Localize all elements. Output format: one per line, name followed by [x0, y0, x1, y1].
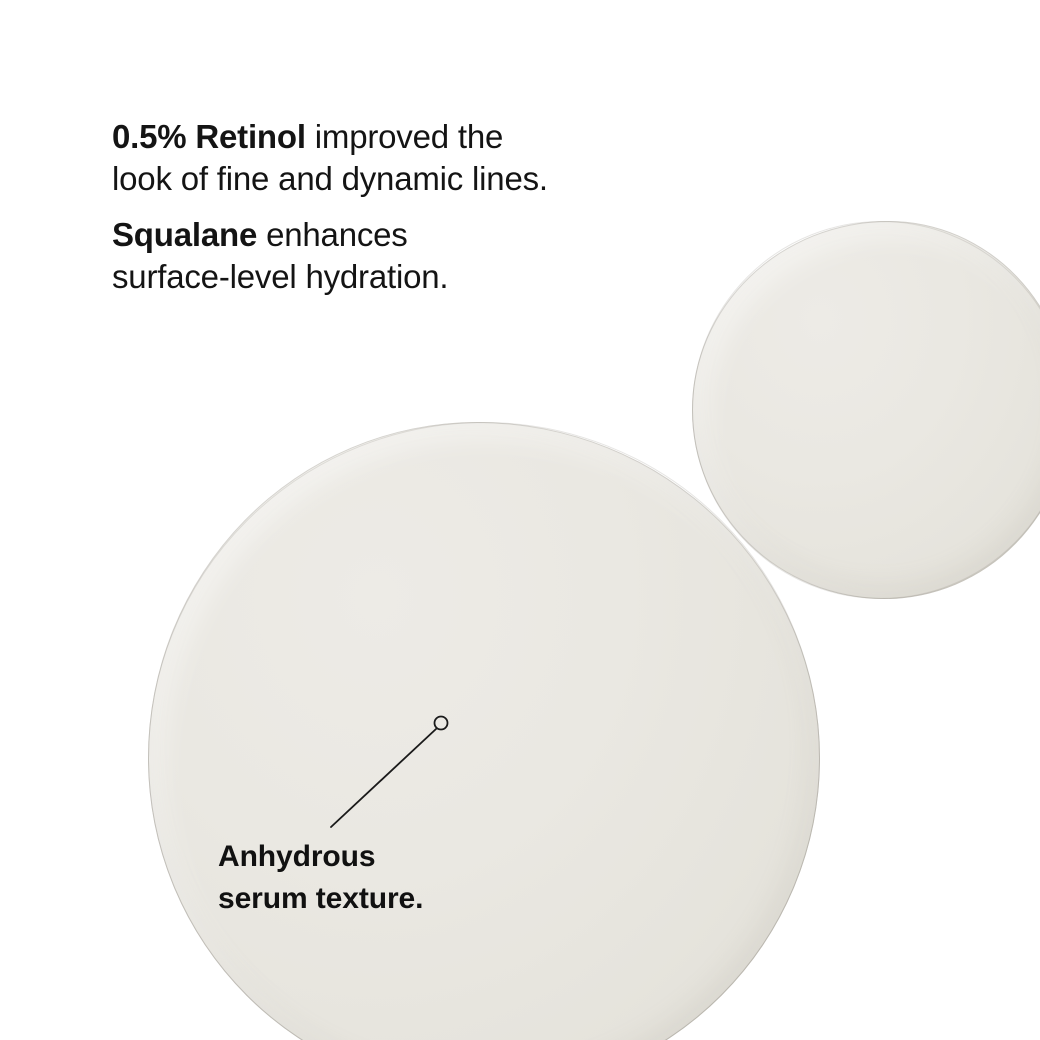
headline-ingredient-squalane: Squalane — [112, 216, 257, 253]
headline-copy: 0.5% Retinol improved the look of fine a… — [112, 116, 732, 298]
headline-line-3-rest: enhances — [257, 216, 408, 253]
product-detail-image: 0.5% Retinol improved the look of fine a… — [0, 0, 1040, 1040]
headline-ingredient-retinol: 0.5% Retinol — [112, 118, 306, 155]
large-serum-swatch — [148, 422, 820, 1040]
headline-line-1: 0.5% Retinol improved the — [112, 116, 732, 158]
headline-line-4: surface-level hydration. — [112, 256, 732, 298]
callout-label: Anhydrous serum texture. — [218, 836, 423, 920]
headline-line-2: look of fine and dynamic lines. — [112, 158, 732, 200]
headline-line-3: Squalane enhances — [112, 214, 732, 256]
small-serum-swatch — [692, 221, 1040, 599]
headline-line-1-rest: improved the — [306, 118, 503, 155]
